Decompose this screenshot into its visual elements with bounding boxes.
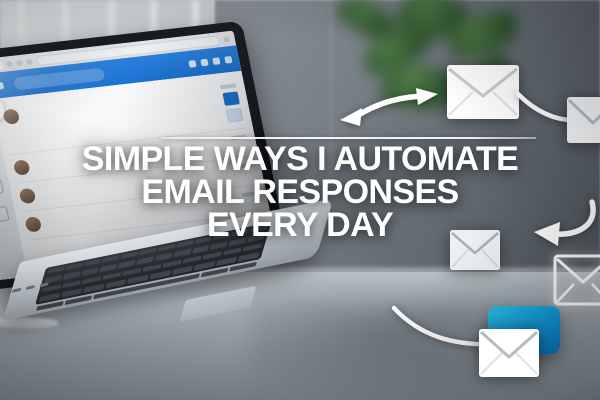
screenshot-scene: SIMPLE WAYS I AUTOMATE EMAIL RESPONSES E…	[0, 0, 600, 400]
headline-block: SIMPLE WAYS I AUTOMATE EMAIL RESPONSES E…	[0, 143, 600, 242]
headline-line-3: EVERY DAY	[0, 209, 600, 242]
headline-line-2: EMAIL RESPONSES	[0, 176, 600, 209]
headline-divider-rule	[161, 137, 536, 139]
headline-line-1: SIMPLE WAYS I AUTOMATE	[0, 143, 600, 176]
